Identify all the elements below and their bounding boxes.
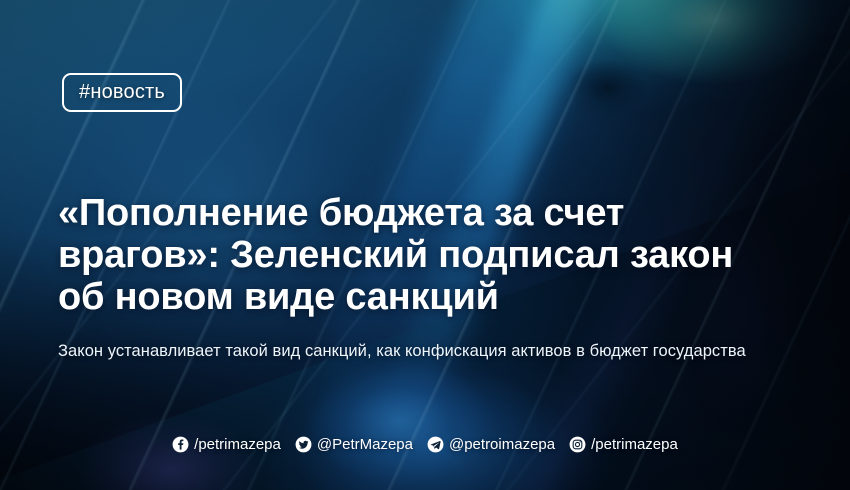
social-handle-facebook: /petrimazepa bbox=[194, 436, 281, 453]
facebook-icon bbox=[172, 436, 189, 453]
instagram-icon bbox=[569, 436, 586, 453]
social-link-twitter[interactable]: @PetrMazepa bbox=[295, 436, 413, 453]
social-link-facebook[interactable]: /petrimazepa bbox=[172, 436, 281, 453]
category-badge[interactable]: #новость bbox=[62, 73, 182, 112]
article-subtitle: Закон устанавливает такой вид санкций, к… bbox=[58, 340, 798, 362]
page-title: «Пополнение бюджета за счет врагов»: Зел… bbox=[58, 192, 738, 318]
social-links-bar: /petrimazepa @PetrMazepa @petroimazepa bbox=[0, 436, 850, 453]
twitter-icon bbox=[295, 436, 312, 453]
social-link-telegram[interactable]: @petroimazepa bbox=[427, 436, 555, 453]
news-card: #новость «Пополнение бюджета за счет вра… bbox=[0, 0, 850, 490]
card-content: #новость «Пополнение бюджета за счет вра… bbox=[0, 0, 850, 490]
social-handle-telegram: @petroimazepa bbox=[449, 436, 555, 453]
telegram-icon bbox=[427, 436, 444, 453]
social-handle-twitter: @PetrMazepa bbox=[317, 436, 413, 453]
social-link-instagram[interactable]: /petrimazepa bbox=[569, 436, 678, 453]
social-handle-instagram: /petrimazepa bbox=[591, 436, 678, 453]
